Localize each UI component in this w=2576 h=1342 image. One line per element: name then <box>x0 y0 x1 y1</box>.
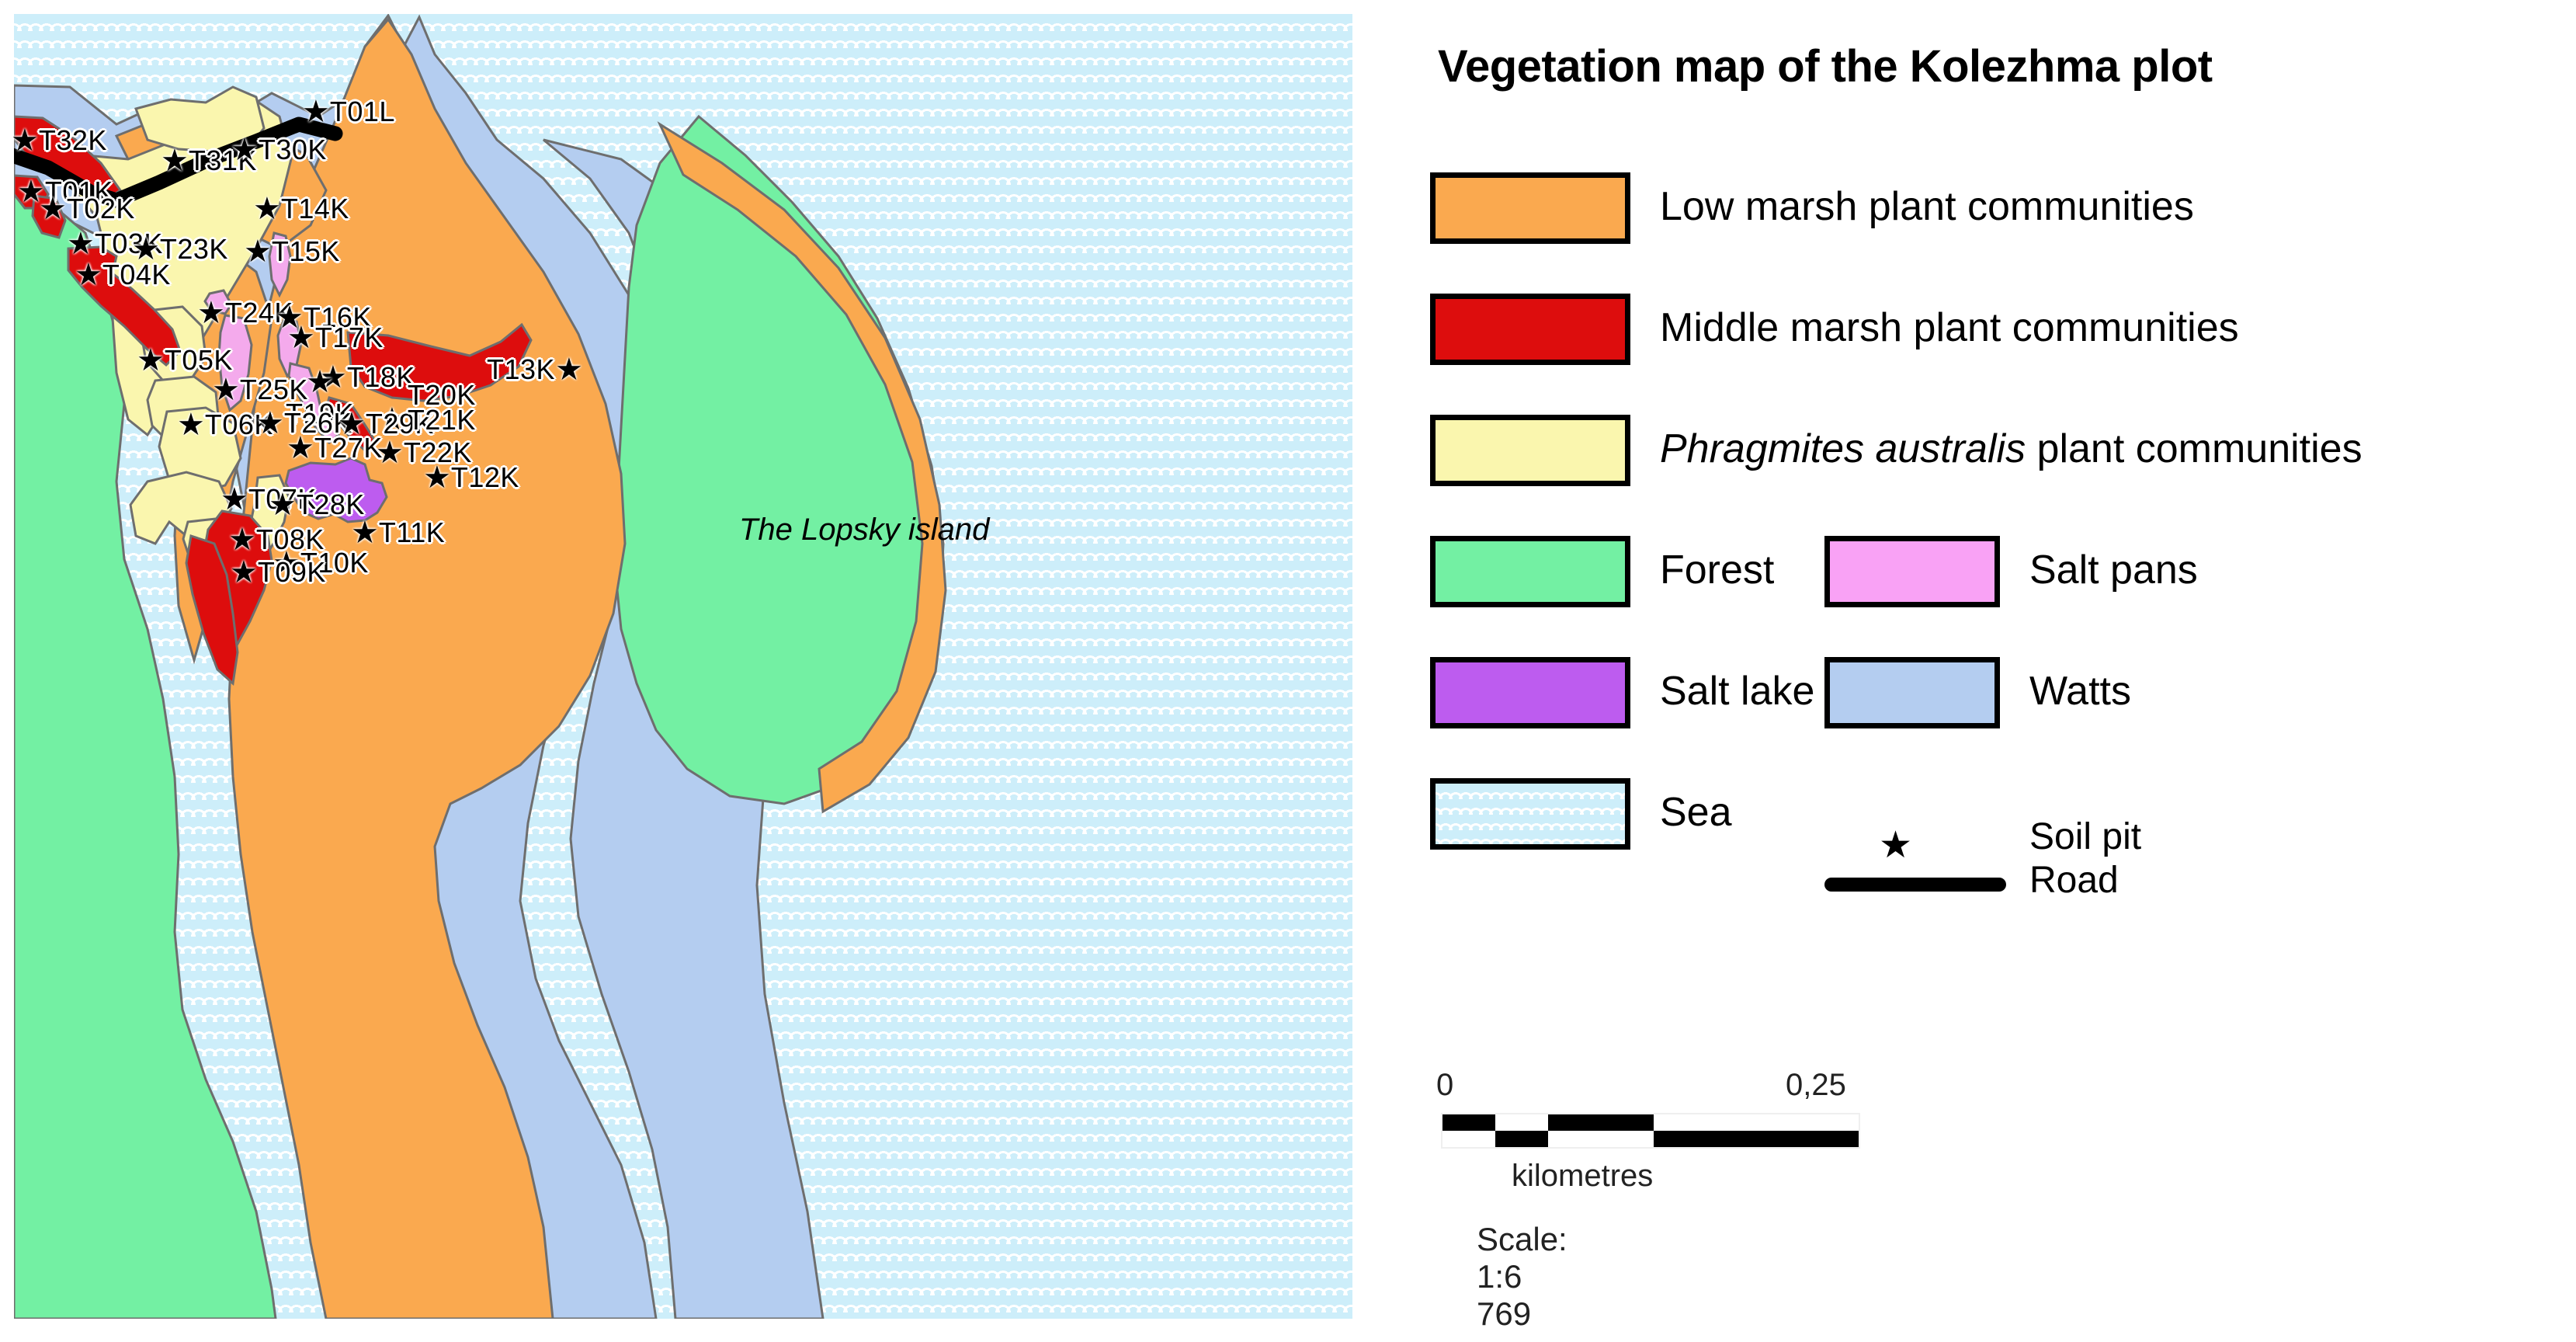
soil-pit-star-icon: ★ <box>286 433 314 464</box>
scale-min-label: 0 <box>1436 1068 1453 1103</box>
legend-label-phragmites-rest: plant communities <box>2026 426 2362 471</box>
soil-pit-T13K[interactable]: ★T13K <box>487 353 583 386</box>
map-figure: The Lopsky island ★T32K ★T31K ★T30K ★T01… <box>0 0 2576 1342</box>
legend-title: Vegetation map of the Kolezhma plot <box>1438 40 2213 92</box>
legend-label-sea: Sea <box>1660 792 1732 833</box>
soil-pit-star-icon: ★ <box>75 259 102 290</box>
legend-label-forest: Forest <box>1660 550 1774 590</box>
soil-pit-T30K[interactable]: ★T30K <box>231 134 327 166</box>
soil-pit-star-icon: ★ <box>555 354 583 385</box>
soil-pit-star-icon: ★ <box>423 462 451 493</box>
soil-pit-T04K[interactable]: ★T04K <box>75 259 171 291</box>
soil-pit-T05K[interactable]: ★T05K <box>137 344 233 377</box>
legend-swatch-salt-pans <box>1824 536 2000 607</box>
legend-panel: Vegetation map of the Kolezhma plot Low … <box>1352 0 2576 1342</box>
soil-pit-star-icon: ★ <box>351 517 379 548</box>
soil-pit-star-icon: ★ <box>212 374 240 405</box>
soil-pit-T21K[interactable]: ★T21K <box>380 404 476 436</box>
soil-pit-star-icon: ★ <box>11 125 39 156</box>
soil-pit-T02K[interactable]: ★T02K <box>39 193 135 225</box>
scale-seg-3 <box>1548 1114 1654 1131</box>
scale-bar-graphic <box>1441 1113 1860 1149</box>
soil-pit-star-icon: ★ <box>137 345 165 376</box>
soil-pit-star-icon: ★ <box>244 236 272 267</box>
soil-pit-star-icon: ★ <box>220 484 248 515</box>
soil-pit-star-icon: ★ <box>228 524 256 555</box>
legend-swatch-low-marsh <box>1430 172 1630 244</box>
soil-pit-T11K[interactable]: ★T11K <box>351 516 445 549</box>
soil-pit-T32K[interactable]: ★T32K <box>11 124 107 157</box>
legend-label-low-marsh: Low marsh plant communities <box>1660 186 2194 227</box>
legend-label-middle-marsh: Middle marsh plant communities <box>1660 308 2239 348</box>
soil-pit-star-icon: ★ <box>197 297 225 329</box>
soil-pit-T27K[interactable]: ★T27K <box>286 432 383 464</box>
scale-seg-1 <box>1442 1114 1495 1131</box>
soil-pit-star-icon: ★ <box>230 557 258 588</box>
soil-pit-star-icon: ★ <box>306 367 334 398</box>
scale-max-label: 0,25 <box>1786 1068 1846 1103</box>
soil-pit-star-icon: ★ <box>256 408 284 439</box>
legend-swatch-forest <box>1430 536 1630 607</box>
legend-label-phragmites: Phragmites australis plant communities <box>1660 429 2362 469</box>
soil-pit-star-icon: ★ <box>161 145 189 176</box>
scale-seg-2 <box>1495 1131 1548 1147</box>
legend-road-line-icon <box>1824 878 2006 892</box>
soil-pit-star-icon: ★ <box>177 409 205 440</box>
legend-swatch-watts <box>1824 657 2000 728</box>
scale-seg-4 <box>1654 1131 1859 1147</box>
scale-ratio-label: Scale: 1:6 769 <box>1477 1221 1567 1333</box>
soil-pit-T14K[interactable]: ★T14K <box>253 193 349 225</box>
vegetation-map-graphic <box>0 0 1352 1342</box>
legend-label-phragmites-italic: Phragmites australis <box>1660 426 2026 471</box>
soil-pit-T15K[interactable]: ★T15K <box>244 235 340 268</box>
soil-pit-T09K[interactable]: ★T09K <box>230 556 326 589</box>
map-panel: The Lopsky island ★T32K ★T31K ★T30K ★T01… <box>0 0 1352 1342</box>
soil-pit-T01L[interactable]: ★T01L <box>302 96 395 128</box>
legend-swatch-sea <box>1430 778 1630 850</box>
soil-pit-star-icon: ★ <box>39 193 67 224</box>
soil-pit-star-icon: ★ <box>302 96 330 127</box>
soil-pit-star-icon: ★ <box>376 437 404 468</box>
soil-pit-star-icon: ★ <box>231 134 259 165</box>
legend-label-soil-pit: Soil pit <box>2029 815 2141 858</box>
legend-label-road: Road <box>2029 859 2119 902</box>
legend-label-salt-lake: Salt lake <box>1660 671 1814 711</box>
soil-pit-star-icon: ★ <box>253 193 281 224</box>
legend-swatch-phragmites <box>1430 415 1630 486</box>
legend-label-salt-pans: Salt pans <box>2029 550 2198 590</box>
legend-label-watts: Watts <box>2029 671 2131 711</box>
soil-pit-star-icon: ★ <box>67 228 95 259</box>
soil-pit-T12K[interactable]: ★T12K <box>423 461 519 494</box>
legend-swatch-middle-marsh <box>1430 294 1630 365</box>
island-label: The Lopsky island <box>739 513 989 548</box>
legend-soil-pit-star-icon: ★ <box>1879 827 1912 864</box>
soil-pit-star-icon: ★ <box>269 489 297 520</box>
scale-units-label: kilometres <box>1512 1159 1653 1194</box>
legend-swatch-salt-lake <box>1430 657 1630 728</box>
soil-pit-star-icon: ★ <box>287 322 315 353</box>
soil-pit-T17K[interactable]: ★T17K <box>287 322 384 354</box>
